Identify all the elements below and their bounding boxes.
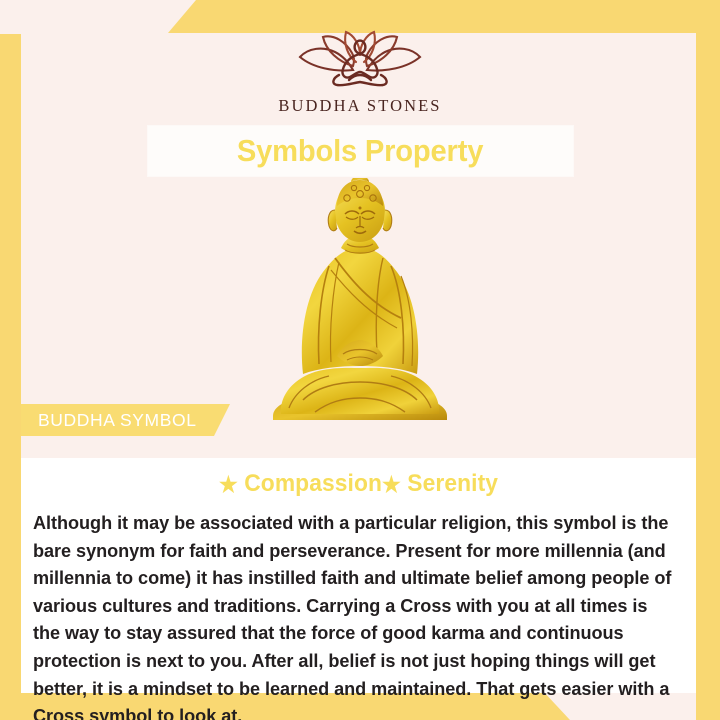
headline-word-serenity: Serenity <box>407 470 498 497</box>
poster-root: BUDDHA STONES Symbols Property <box>0 0 720 720</box>
page-title: Symbols Property <box>237 133 483 169</box>
title-banner: Symbols Property <box>148 126 573 176</box>
lotus-meditation-figure-icon <box>277 26 443 88</box>
section-ribbon-label: BUDDHA SYMBOL <box>21 410 197 431</box>
brand-logo: BUDDHA STONES <box>0 26 720 116</box>
star-icon-left: ★ <box>219 472 238 497</box>
headline-word-compassion: Compassion <box>244 470 382 497</box>
golden-seated-buddha-statue-icon <box>251 178 469 420</box>
brand-name: BUDDHA STONES <box>278 96 441 116</box>
hero-image-stage <box>0 178 720 420</box>
content-card: ★ Compassion★ Serenity Although it may b… <box>21 458 696 693</box>
section-ribbon: BUDDHA SYMBOL <box>21 404 230 436</box>
content-headline: ★ Compassion★ Serenity <box>38 470 679 498</box>
star-icon-right: ★ <box>382 472 401 497</box>
content-body-text: Although it may be associated with a par… <box>33 509 675 720</box>
